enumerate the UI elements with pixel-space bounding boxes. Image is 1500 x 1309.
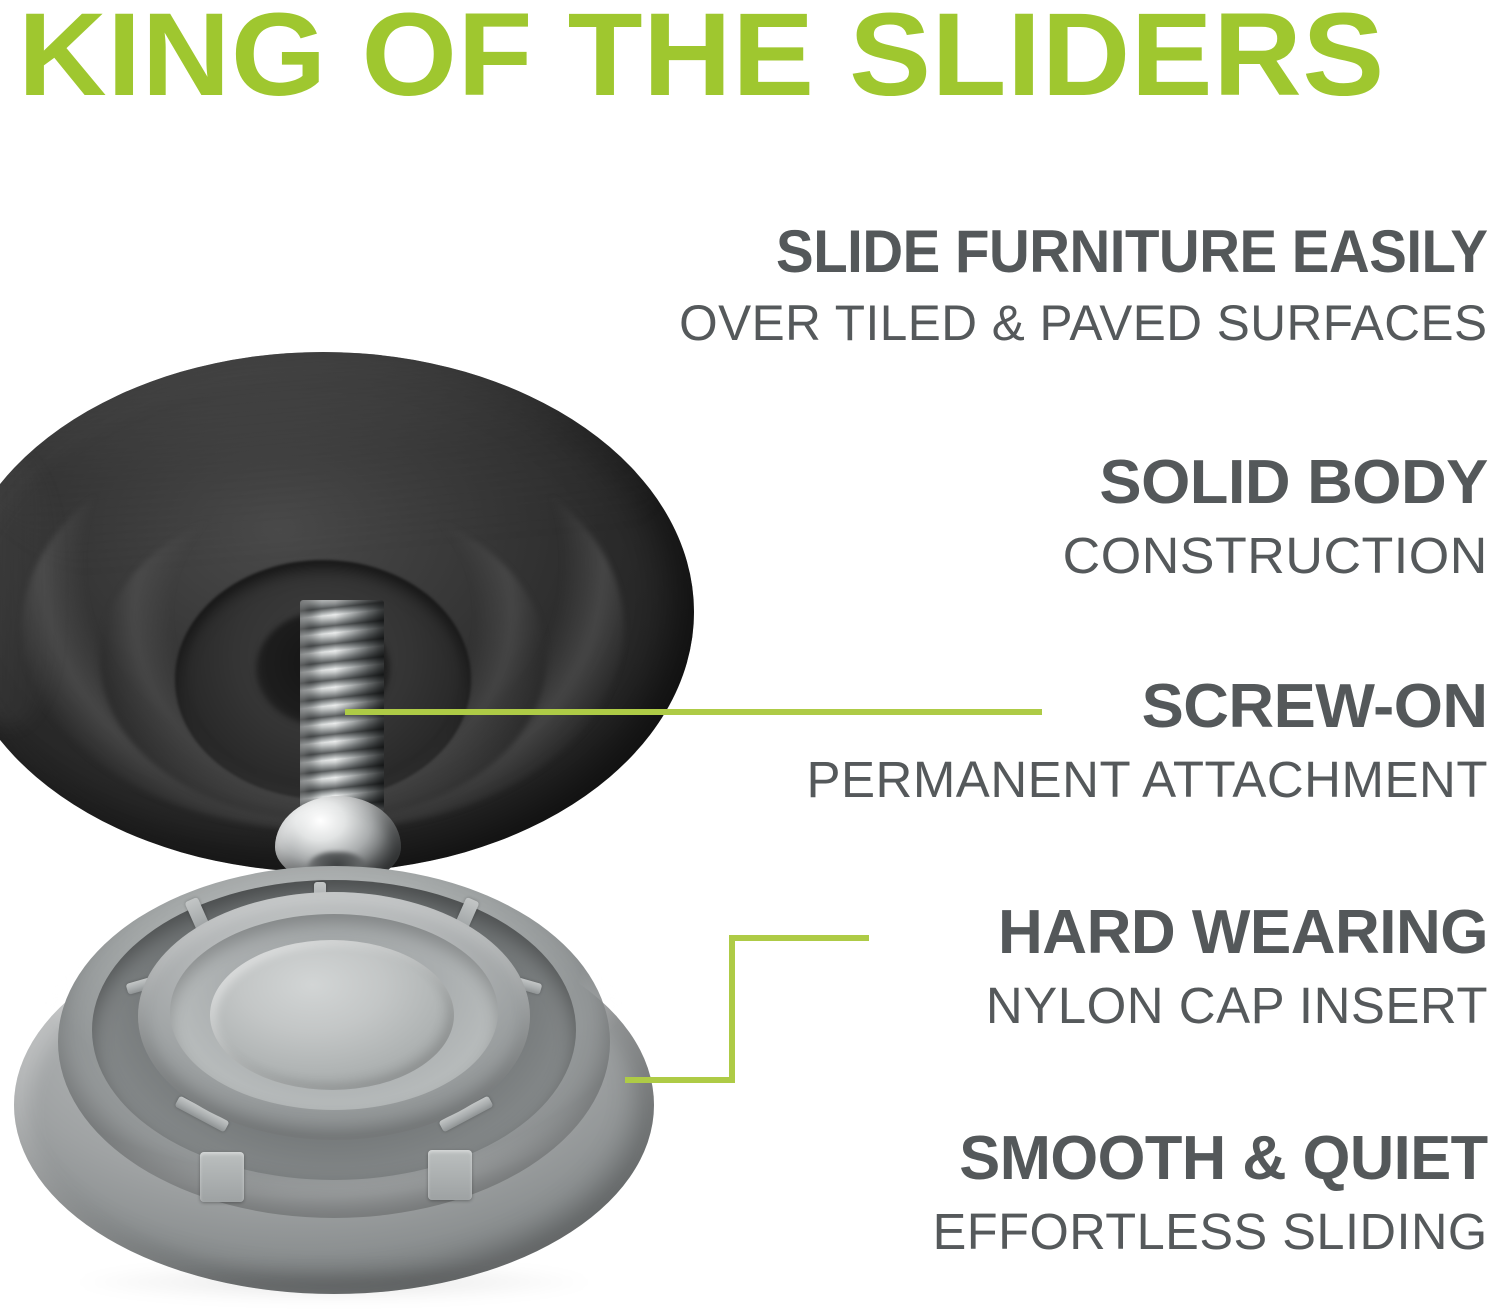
- screw: [272, 600, 404, 890]
- nylon-cap-lug: [200, 1152, 244, 1202]
- infographic-page: KING OF THE SLIDERS: [0, 0, 1500, 1309]
- feature-smooth-and-quiet: SMOOTH & QUIET EFFORTLESS SLIDING: [927, 1128, 1488, 1257]
- feature-subheading: PERMANENT ATTACHMENT: [806, 754, 1488, 805]
- screw-threaded-shaft: [300, 600, 384, 812]
- feature-slide-furniture-easily: SLIDE FURNITURE EASILY OVER TILED & PAVE…: [671, 222, 1488, 348]
- feature-heading: SOLID BODY: [1063, 452, 1488, 514]
- leader-line-hard-wearing-bottom: [625, 1077, 735, 1083]
- product-contact-shadow: [74, 1262, 594, 1302]
- feature-heading: SLIDE FURNITURE EASILY: [720, 222, 1488, 282]
- feature-screw-on: SCREW-ON PERMANENT ATTACHMENT: [806, 676, 1488, 805]
- feature-heading: HARD WEARING: [986, 902, 1488, 964]
- feature-heading: SMOOTH & QUIET: [933, 1128, 1488, 1190]
- nylon-cap-insert: [14, 858, 654, 1298]
- feature-heading: SCREW-ON: [793, 676, 1488, 738]
- nylon-cap-lug: [428, 1150, 472, 1200]
- feature-subheading: NYLON CAP INSERT: [986, 980, 1488, 1031]
- page-title: KING OF THE SLIDERS: [18, 0, 1500, 114]
- nylon-cap-centre-pad: [210, 940, 454, 1090]
- feature-solid-body: SOLID BODY CONSTRUCTION: [1071, 452, 1488, 581]
- feature-hard-wearing: HARD WEARING NYLON CAP INSERT: [986, 902, 1488, 1031]
- leader-line-hard-wearing-vertical: [729, 935, 735, 1083]
- product-photo: [0, 330, 740, 1309]
- leader-line-hard-wearing-top: [729, 935, 869, 941]
- feature-subheading: EFFORTLESS SLIDING: [933, 1206, 1488, 1257]
- feature-subheading: CONSTRUCTION: [1063, 530, 1488, 581]
- feature-subheading: OVER TILED & PAVED SURFACES: [680, 298, 1488, 348]
